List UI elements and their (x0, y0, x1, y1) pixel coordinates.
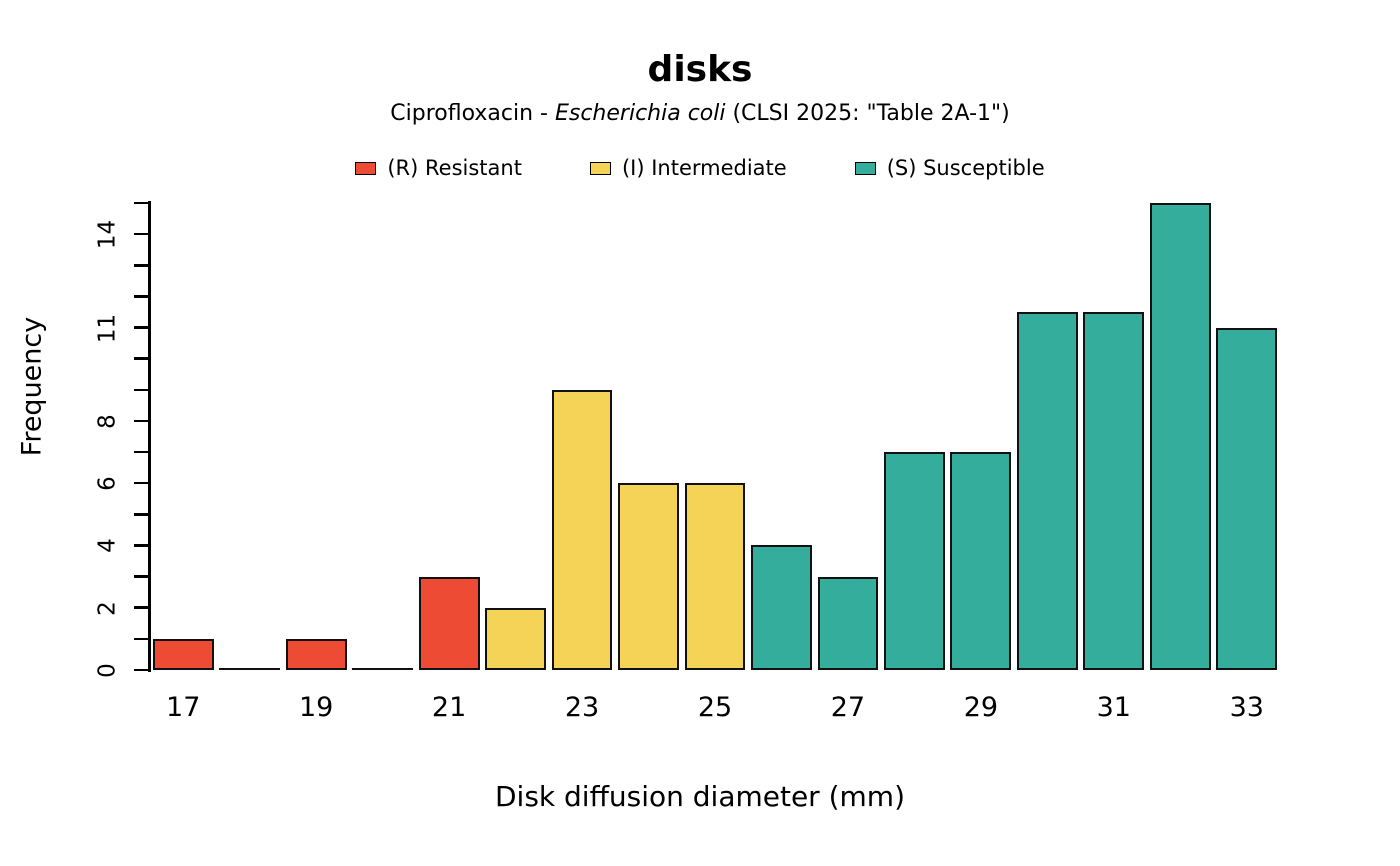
legend-item-susceptible[interactable]: (S) Susceptible (855, 158, 1045, 179)
bar-32[interactable] (1150, 203, 1211, 670)
y-tick-10 (134, 357, 149, 360)
bar-30[interactable] (1017, 312, 1078, 670)
bar-series (150, 203, 1280, 670)
x-tick-label-33: 33 (1207, 694, 1287, 721)
y-tick-label-2: 2 (97, 588, 120, 628)
bar-20[interactable] (352, 668, 413, 670)
bar-28[interactable] (884, 452, 945, 670)
y-tick-6 (134, 482, 149, 485)
y-tick-0 (134, 669, 149, 672)
legend-swatch-resistant (355, 162, 376, 175)
bar-23[interactable] (552, 390, 613, 670)
y-tick-1 (134, 638, 149, 641)
legend-label-intermediate: (I) Intermediate (622, 158, 787, 179)
plot-area (150, 203, 1280, 670)
bar-31[interactable] (1083, 312, 1144, 670)
bar-17[interactable] (153, 639, 214, 670)
y-tick-label-8: 8 (97, 401, 120, 441)
chart-subtitle: Ciprofloxacin - Escherichia coli (CLSI 2… (0, 103, 1400, 125)
x-tick-label-29: 29 (941, 694, 1021, 721)
chart-legend: (R) Resistant (I) Intermediate (S) Susce… (0, 158, 1400, 179)
x-tick-label-27: 27 (808, 694, 888, 721)
y-tick-7 (134, 451, 149, 454)
bar-21[interactable] (419, 577, 480, 670)
x-tick-label-23: 23 (542, 694, 622, 721)
y-tick-8 (134, 420, 149, 423)
bar-24[interactable] (618, 483, 679, 670)
x-tick-label-21: 21 (409, 694, 489, 721)
legend-item-intermediate[interactable]: (I) Intermediate (590, 158, 787, 179)
y-tick-4 (134, 544, 149, 547)
bar-18[interactable] (219, 668, 280, 670)
legend-swatch-intermediate (590, 162, 611, 175)
bar-19[interactable] (286, 639, 347, 670)
y-tick-label-4: 4 (97, 526, 120, 566)
y-tick-label-6: 6 (97, 464, 120, 504)
y-tick-label-14: 14 (97, 215, 120, 255)
y-tick-12 (134, 295, 149, 298)
chart-figure: disks Ciprofloxacin - Escherichia coli (… (0, 0, 1400, 866)
y-tick-9 (134, 389, 149, 392)
bar-33[interactable] (1216, 328, 1277, 670)
y-tick-13 (134, 264, 149, 267)
y-tick-14 (134, 233, 149, 236)
bar-22[interactable] (485, 608, 546, 670)
y-tick-label-11: 11 (97, 308, 120, 348)
legend-label-susceptible: (S) Susceptible (887, 158, 1045, 179)
x-tick-label-17: 17 (143, 694, 223, 721)
chart-title: disks (0, 52, 1400, 88)
bar-25[interactable] (685, 483, 746, 670)
bar-26[interactable] (751, 545, 812, 670)
subtitle-organism: Escherichia coli (555, 101, 726, 126)
y-tick-3 (134, 575, 149, 578)
x-tick-label-19: 19 (276, 694, 356, 721)
y-tick-5 (134, 513, 149, 516)
bar-27[interactable] (818, 577, 879, 670)
y-tick-2 (134, 606, 149, 609)
y-tick-11 (134, 326, 149, 329)
bar-29[interactable] (950, 452, 1011, 670)
legend-item-resistant[interactable]: (R) Resistant (355, 158, 522, 179)
subtitle-antibiotic: Ciprofloxacin (390, 101, 533, 126)
subtitle-separator: - (533, 101, 555, 126)
legend-label-resistant: (R) Resistant (387, 158, 522, 179)
x-axis-label: Disk diffusion diameter (mm) (0, 783, 1400, 811)
y-tick-label-0: 0 (97, 651, 120, 691)
legend-swatch-susceptible (855, 162, 876, 175)
x-tick-label-25: 25 (675, 694, 755, 721)
x-tick-label-31: 31 (1074, 694, 1154, 721)
y-tick-15 (134, 202, 149, 205)
y-axis-label: Frequency (19, 187, 46, 587)
subtitle-guideline: (CLSI 2025: "Table 2A-1") (725, 101, 1009, 126)
